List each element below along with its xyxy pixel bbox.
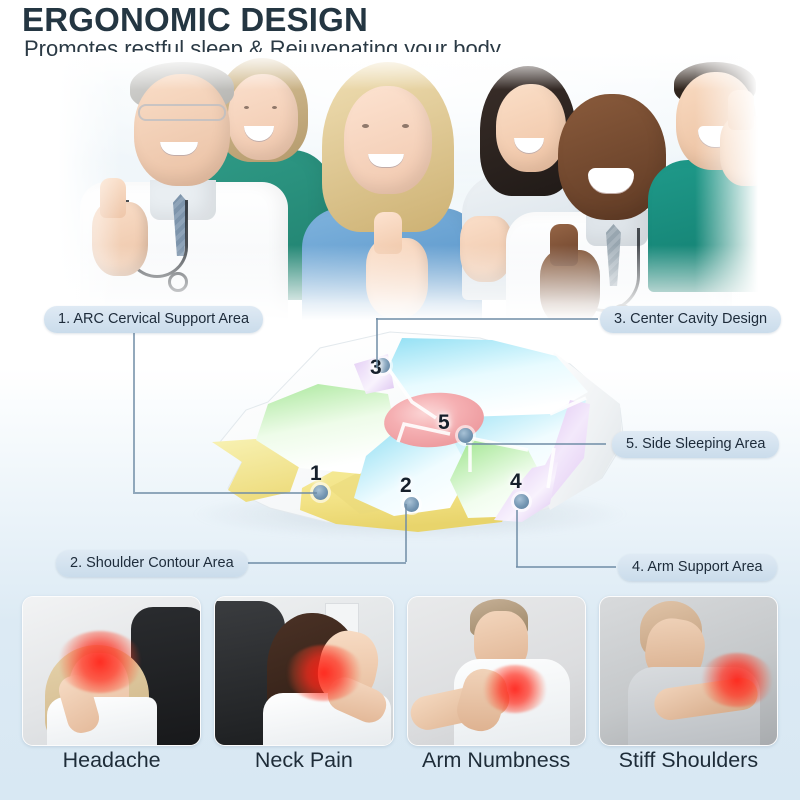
thumbs-up-hand — [460, 216, 512, 282]
hero-photo-medical-team — [58, 52, 758, 320]
marker-number-2: 2 — [400, 474, 412, 498]
connector-1-horizontal — [133, 492, 317, 494]
condition-card-row — [22, 596, 778, 746]
face — [134, 74, 230, 186]
eyeglasses — [138, 104, 226, 121]
stethoscope-bell — [168, 272, 188, 292]
callout-4-arm-support-area[interactable]: 4. Arm Support Area — [618, 554, 777, 581]
connector-1-vertical — [133, 330, 135, 492]
eye-right — [402, 124, 409, 128]
condition-card-headache[interactable] — [22, 596, 201, 746]
connector-4-vertical — [516, 510, 518, 567]
marker-dot-4[interactable] — [514, 494, 529, 509]
person-senior-doctor-left — [78, 60, 293, 320]
connector-5-horizontal — [466, 443, 606, 445]
connector-4-horizontal — [516, 566, 616, 568]
marker-number-5: 5 — [438, 411, 450, 435]
connector-3-horizontal — [376, 318, 598, 320]
condition-label-arm-numbness: Arm Numbness — [407, 748, 586, 773]
person-teal-scrubs-right — [648, 60, 758, 290]
photo-stiff-shoulders — [600, 597, 777, 745]
marker-dot-5[interactable] — [458, 428, 473, 443]
pain-highlight-neck — [285, 645, 363, 701]
condition-label-row: Headache Neck Pain Arm Numbness Stiff Sh… — [22, 748, 778, 773]
infographic-page: ERGONOMIC DESIGN Promotes restful sleep … — [0, 0, 800, 800]
marker-number-4: 4 — [510, 470, 522, 494]
condition-card-neck-pain[interactable] — [214, 596, 393, 746]
callout-3-center-cavity-design[interactable]: 3. Center Cavity Design — [600, 306, 781, 333]
condition-card-arm-numbness[interactable] — [407, 596, 586, 746]
eye-left — [362, 124, 369, 128]
face — [344, 86, 432, 194]
callout-5-side-sleeping-area[interactable]: 5. Side Sleeping Area — [612, 431, 779, 458]
page-title: ERGONOMIC DESIGN — [22, 2, 368, 39]
photo-headache — [23, 597, 200, 745]
photo-neck-pain — [215, 597, 392, 745]
connector-2-vertical — [405, 504, 407, 562]
callout-1-arc-cervical-support-area[interactable]: 1. ARC Cervical Support Area — [44, 306, 263, 333]
pain-highlight-head — [57, 631, 143, 693]
thumb-finger — [100, 178, 126, 218]
callout-2-shoulder-contour-area[interactable]: 2. Shoulder Contour Area — [56, 550, 248, 577]
condition-card-stiff-shoulders[interactable] — [599, 596, 778, 746]
thumb-finger — [728, 90, 754, 130]
connector-2-horizontal — [240, 562, 406, 564]
pain-highlight-shoulder — [700, 653, 774, 707]
marker-number-1: 1 — [310, 462, 322, 486]
photo-arm-numbness — [408, 597, 585, 745]
thumb-finger — [374, 212, 402, 254]
condition-label-neck-pain: Neck Pain — [214, 748, 393, 773]
condition-label-headache: Headache — [22, 748, 201, 773]
thumb-finger — [550, 224, 578, 266]
connector-3-vertical — [376, 318, 378, 368]
condition-label-stiff-shoulders: Stiff Shoulders — [599, 748, 778, 773]
pain-highlight-arm — [482, 665, 548, 713]
